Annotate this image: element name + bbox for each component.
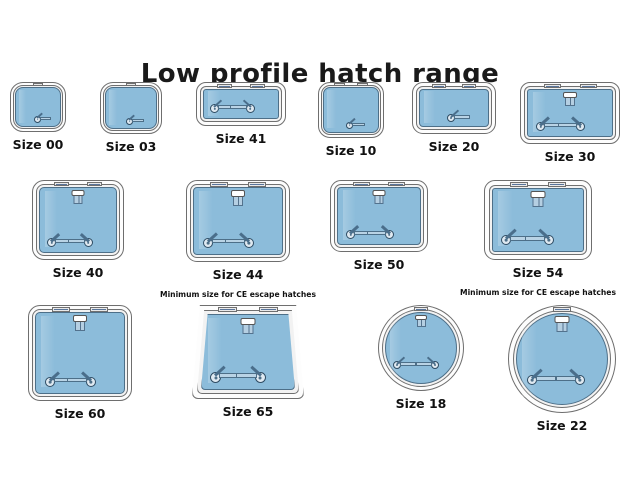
hatch-latch-bar (416, 362, 432, 366)
hatch-stay-body (74, 196, 83, 204)
hatch-latch-handle (246, 104, 255, 113)
hatch-top-plaque (510, 182, 528, 187)
hatch-illustration (508, 305, 616, 413)
hatch-stay-body (233, 197, 243, 206)
hatch-latch-handle (86, 377, 96, 387)
hatch-top-plaque (357, 83, 368, 86)
hatch-top-plaque (548, 182, 566, 187)
hatch-stay-fitting (531, 191, 546, 207)
hatch-top-plaque (580, 84, 597, 88)
hatch-cell-size-22: Size 22 (508, 305, 616, 433)
hatch-latch-handle (84, 238, 93, 247)
hatch-latch-bar (526, 236, 546, 241)
hatch-illustration (520, 82, 620, 144)
hatch-size-label: Size 50 (330, 258, 428, 272)
hatch-stay-fitting (373, 190, 386, 204)
hatch-latch-handle (346, 230, 355, 239)
hatch-latch-handle (385, 230, 394, 239)
hatch-top-plaque (52, 307, 70, 312)
hatch-latch-bar (400, 362, 416, 366)
hatch-size-label: Size 44 (186, 268, 290, 282)
hatch-cell-size-30: Size 30 (520, 82, 620, 164)
hatch-top-plaque (388, 182, 405, 186)
hatch-latch-handle (126, 118, 133, 125)
hatch-size-label: Size 60 (28, 407, 132, 421)
hatch-cell-size-54: Size 54Minimum size for CE escape hatche… (484, 180, 592, 299)
hatch-cell-size-41: Size 41 (196, 82, 286, 146)
hatch-latch-bar (40, 117, 51, 120)
hatch-size-label: Size 22 (508, 419, 616, 433)
hatch-latch-bar (132, 119, 144, 122)
hatch-illustration (412, 82, 496, 134)
hatch-latch-handle (47, 238, 56, 247)
hatch-top-plaque (432, 84, 446, 88)
hatch-escape-note: Minimum size for CE escape hatches (460, 289, 616, 297)
hatch-illustration (186, 180, 290, 262)
hatch-top-plaque (544, 84, 561, 88)
hatch-latch-bar (226, 239, 246, 243)
hatch-top-plaque (126, 83, 136, 86)
hatch-illustration (330, 180, 428, 252)
hatch-latch-handle (34, 116, 41, 123)
hatch-size-label: Size 40 (32, 266, 124, 280)
hatch-illustration (484, 180, 592, 260)
hatch-stay-fitting (415, 315, 427, 327)
hatch-stay-fitting (72, 190, 85, 204)
hatch-stay-cap (531, 191, 546, 198)
hatch-top-plaque (334, 83, 345, 86)
hatch-stay-body (565, 98, 575, 106)
hatch-top-plaque (462, 84, 476, 88)
hatch-latch-handle (527, 375, 537, 385)
hatch-stay-body (75, 322, 85, 331)
hatch-top-plaque (553, 307, 571, 312)
hatch-stay-cap (73, 315, 87, 322)
hatch-size-label: Size 18 (378, 397, 464, 411)
hatch-top-plaque (250, 84, 265, 88)
hatch-latch-handle (346, 122, 353, 129)
hatch-row-3: Size 60Size 65Size 18Size 22 (0, 305, 640, 445)
hatch-illustration (192, 305, 304, 399)
hatch-row-2: Size 40Size 44Minimum size for CE escape… (0, 180, 640, 305)
hatch-latch-bar (352, 123, 365, 126)
hatch-latch-handle (45, 377, 55, 387)
hatch-latch-handle (501, 235, 511, 245)
hatch-cell-size-20: Size 20 (412, 82, 496, 154)
hatch-stay-body (533, 198, 544, 207)
hatch-cell-size-65: Size 65 (192, 305, 304, 419)
hatch-top-plaque (259, 307, 278, 312)
hatch-illustration (32, 180, 124, 260)
hatch-illustration (10, 82, 66, 132)
hatch-latch-handle (244, 238, 254, 248)
hatch-cell-size-60: Size 60 (28, 305, 132, 421)
hatch-latch-handle (393, 361, 401, 369)
hatch-cell-size-44: Size 44Minimum size for CE escape hatche… (186, 180, 290, 301)
hatch-cell-size-40: Size 40 (32, 180, 124, 280)
hatch-latch-handle (576, 122, 585, 131)
hatch-latch-bar (558, 123, 577, 127)
hatch-stay-body (243, 325, 254, 334)
hatch-illustration (378, 305, 464, 391)
hatch-latch-bar (236, 373, 257, 378)
hatch-escape-note: Minimum size for CE escape hatches (160, 291, 316, 299)
hatch-latch-handle (536, 122, 545, 131)
hatch-stay-fitting (231, 190, 245, 206)
hatch-top-plaque (87, 182, 102, 186)
hatch-size-label: Size 03 (100, 140, 162, 154)
hatch-latch-handle (575, 375, 585, 385)
hatch-size-label: Size 00 (10, 138, 66, 152)
hatch-latch-bar (557, 376, 577, 381)
hatch-latch-bar (68, 239, 85, 243)
hatch-latch-bar (230, 105, 247, 109)
hatch-top-plaque (248, 182, 266, 187)
hatch-size-label: Size 20 (412, 140, 496, 154)
hatch-cell-size-50: Size 50 (330, 180, 428, 272)
hatch-size-label: Size 65 (192, 405, 304, 419)
hatch-stay-fitting (73, 315, 87, 331)
hatch-top-plaque (353, 182, 370, 186)
hatch-top-plaque (217, 84, 232, 88)
hatch-size-label: Size 10 (318, 144, 384, 158)
hatch-top-plaque (90, 307, 108, 312)
hatch-latch-handle (203, 238, 213, 248)
hatch-top-plaque (33, 83, 43, 86)
hatch-stay-body (557, 323, 568, 332)
hatch-top-plaque (210, 182, 228, 187)
hatch-latch-bar (68, 378, 88, 382)
hatch-latch-handle (544, 235, 554, 245)
hatch-latch-bar (536, 376, 556, 381)
hatch-stay-body (417, 320, 426, 327)
hatch-cell-size-03: Size 03 (100, 82, 162, 154)
hatch-top-plaque (54, 182, 69, 186)
hatch-cell-size-00: Size 00 (10, 82, 66, 152)
hatch-size-label: Size 54 (484, 266, 592, 280)
hatch-top-plaque (414, 307, 428, 311)
hatch-stay-fitting (563, 92, 577, 106)
hatch-illustration (28, 305, 132, 401)
hatch-latch-bar (454, 115, 470, 119)
hatch-top-plaque (218, 307, 237, 312)
hatch-stay-fitting (555, 316, 570, 332)
hatch-stay-fitting (241, 318, 256, 334)
hatch-cell-size-10: Size 10 (318, 82, 384, 158)
hatch-latch-handle (210, 372, 221, 383)
hatch-stay-body (375, 196, 384, 204)
hatch-stay-cap (231, 190, 245, 197)
hatch-illustration (100, 82, 162, 134)
hatch-stay-cap (241, 318, 256, 325)
hatch-stay-cap (555, 316, 570, 323)
hatch-latch-handle (447, 114, 455, 122)
hatch-illustration (196, 82, 286, 126)
hatch-illustration (318, 82, 384, 138)
hatch-size-label: Size 30 (520, 150, 620, 164)
hatch-latch-bar (367, 231, 386, 235)
hatch-latch-handle (431, 361, 439, 369)
hatch-latch-handle (255, 372, 266, 383)
hatch-size-label: Size 41 (196, 132, 286, 146)
hatch-row-1: Size 00Size 03Size 41Size 10Size 20Size … (0, 82, 640, 172)
hatch-latch-handle (210, 104, 219, 113)
hatch-cell-size-18: Size 18 (378, 305, 464, 411)
